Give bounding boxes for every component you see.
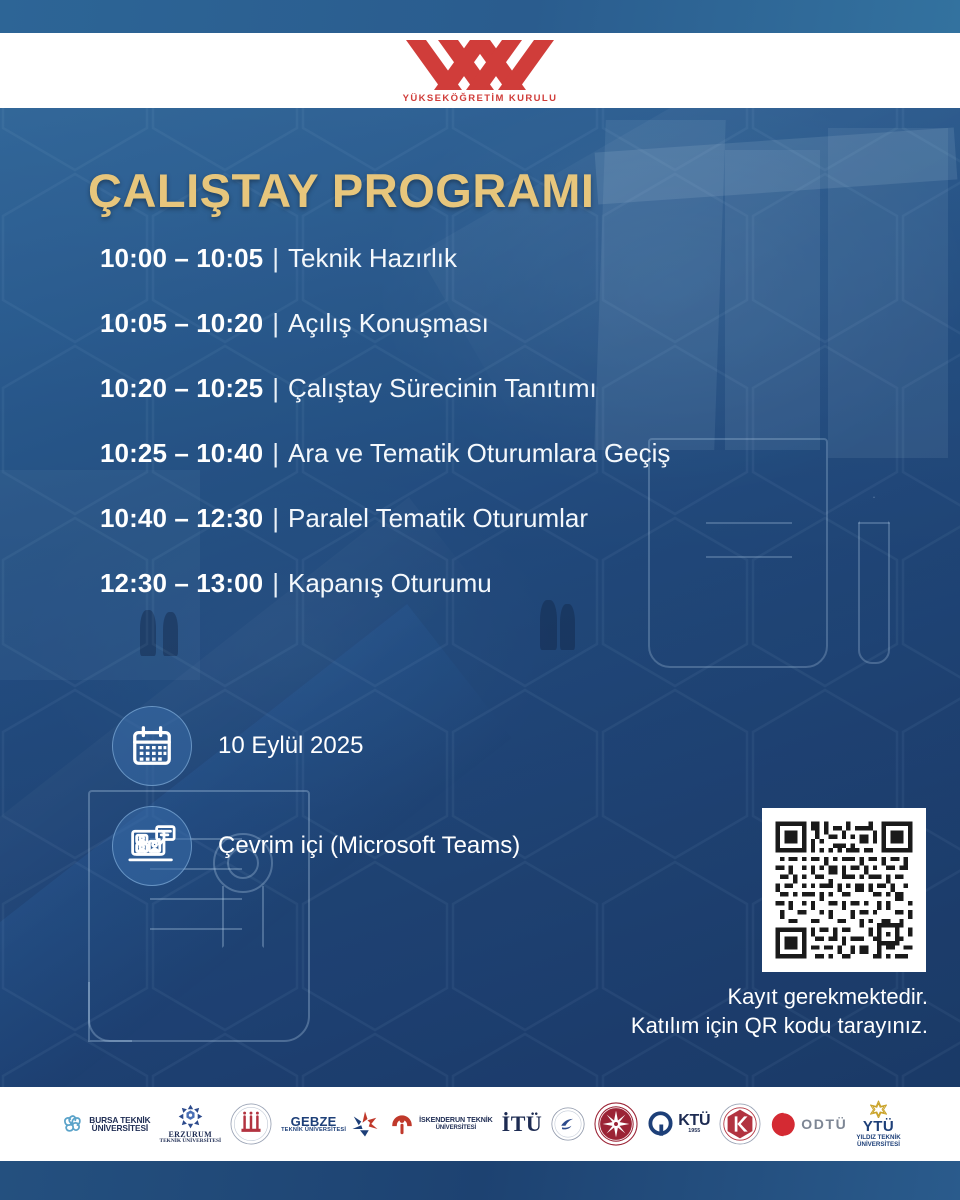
schedule-row: 10:25 – 10:40 | Ara ve Tematik Oturumlar… [100, 438, 910, 503]
bursa-teknik-universitesi-logo: BURSA TEKNİK ÜNİVERSİTESİ [59, 1111, 150, 1137]
university-seal-icon [230, 1103, 272, 1145]
ktu-mark-icon [647, 1111, 674, 1138]
schedule-separator: | [272, 373, 279, 404]
schedule-label: Paralel Tematik Oturumlar [288, 503, 588, 534]
ktu-logo: KTÜ 1955 [647, 1111, 710, 1138]
event-place-text: Çevrim içi (Microsoft Teams) [218, 832, 520, 860]
video-conference-icon [112, 806, 192, 886]
logo-line1: KTÜ [678, 1113, 710, 1129]
header-logo-band: YÜKSEKÖĞRETİM KURULU [0, 33, 960, 108]
top-accent-strip [0, 0, 960, 33]
schedule-row: 10:05 – 10:20 | Açılış Konuşması [100, 308, 910, 373]
schedule-time: 10:00 – 10:05 [100, 243, 263, 274]
event-date-text: 10 Eylül 2025 [218, 732, 363, 760]
yok-mark-icon [404, 38, 556, 92]
schedule-separator: | [272, 503, 279, 534]
partner-logos-band: BURSA TEKNİK ÜNİVERSİTESİ ERZURUM TEKNİK… [0, 1087, 960, 1161]
schedule-time: 12:30 – 13:00 [100, 568, 263, 599]
schedule-row: 10:00 – 10:05 | Teknik Hazırlık [100, 243, 910, 308]
itu-logo: İTÜ [502, 1111, 543, 1137]
schedule-time: 10:05 – 10:20 [100, 308, 263, 339]
workshop-program-poster: YÜKSEKÖĞRETİM KURULU ÇALIŞTAY PROGRAMI 1… [0, 0, 960, 1200]
footer-accent-strip [0, 1161, 960, 1200]
yok-logo: YÜKSEKÖĞRETİM KURULU [403, 38, 558, 104]
registration-note-line2: Katılım için QR kodu tarayınız. [508, 1012, 928, 1041]
iskenderun-seal-logo [230, 1103, 272, 1145]
schedule-time: 10:25 – 10:40 [100, 438, 263, 469]
logo-line2: ÜNİVERSİTESİ [89, 1124, 150, 1132]
calendar-icon [112, 706, 192, 786]
logo-line2: ÜNİVERSİTESİ [856, 1142, 900, 1148]
erzurum-teknik-universitesi-logo: ERZURUM TEKNİK ÜNİVERSİTESİ [159, 1103, 221, 1145]
logo-line1: GEBZE [281, 1115, 346, 1128]
university-seal-icon [551, 1107, 585, 1141]
ytu-logo: YTÜ YILDIZ TEKNİK ÜNİVERSİTESİ [856, 1100, 900, 1148]
iskenderun-mark-icon [389, 1111, 415, 1137]
schedule-label: Çalıştay Sürecinin Tanıtımı [288, 373, 597, 404]
university-seal-icon [594, 1102, 638, 1146]
registration-note: Kayıt gerekmektedir. Katılım için QR kod… [508, 983, 928, 1040]
logo-line2: 1955 [678, 1129, 710, 1135]
schedule-row: 12:30 – 13:00 | Kapanış Oturumu [100, 568, 910, 633]
iskenderun-teknik-universitesi-logo: İSKENDERUN TEKNİK ÜNİVERSİTESİ [389, 1111, 493, 1137]
registration-note-line1: Kayıt gerekmektedir. [508, 983, 928, 1012]
schedule-label: Teknik Hazırlık [288, 243, 457, 274]
logo-line2: ÜNİVERSİTESİ [419, 1125, 493, 1131]
gebze-yuksek-teknoloji-seal-logo [594, 1102, 638, 1146]
schedule-separator: | [272, 243, 279, 274]
qr-code[interactable] [762, 808, 926, 972]
bursa-swirl-icon [59, 1111, 85, 1137]
schedule-row: 10:40 – 12:30 | Paralel Tematik Oturumla… [100, 503, 910, 568]
schedule-label: Kapanış Oturumu [288, 568, 492, 599]
konya-teknik-universitesi-seal-logo [719, 1103, 761, 1145]
yok-logo-text: YÜKSEKÖĞRETİM KURULU [403, 93, 558, 104]
schedule-time: 10:40 – 12:30 [100, 503, 263, 534]
ytu-mark-text: YTÜ [863, 1118, 894, 1135]
schedule-separator: | [272, 568, 279, 599]
schedule-list: 10:00 – 10:05 | Teknik Hazırlık 10:05 – … [100, 243, 910, 633]
qr-code-icon[interactable] [771, 817, 917, 963]
schedule-label: Ara ve Tematik Oturumlara Geçiş [288, 438, 670, 469]
certificate-curl [88, 982, 132, 1042]
schedule-separator: | [272, 438, 279, 469]
logo-line1: İSKENDERUN TEKNİK [419, 1117, 493, 1124]
logo-line2: TEKNİK ÜNİVERSİTESİ [281, 1128, 346, 1134]
event-date-row: 10 Eylül 2025 [112, 706, 363, 786]
gebze-mark-icon [350, 1109, 380, 1139]
erzurum-snowflake-icon [177, 1103, 204, 1130]
odtu-mark-icon [770, 1111, 797, 1138]
seal-logo-small [551, 1107, 585, 1141]
ytu-star-icon [866, 1100, 891, 1118]
itu-logo-text: İTÜ [502, 1111, 543, 1137]
page-title: ÇALIŞTAY PROGRAMI [88, 163, 594, 218]
odtu-logo-text: ODTÜ [801, 1116, 847, 1132]
event-place-row: Çevrim içi (Microsoft Teams) [112, 806, 520, 886]
schedule-separator: | [272, 308, 279, 339]
odtu-logo: ODTÜ [770, 1111, 847, 1138]
university-seal-icon [719, 1103, 761, 1145]
gebze-teknik-universitesi-logo: GEBZE TEKNİK ÜNİVERSİTESİ [281, 1109, 380, 1139]
schedule-row: 10:20 – 10:25 | Çalıştay Sürecinin Tanıt… [100, 373, 910, 438]
logo-line2: TEKNİK ÜNİVERSİTESİ [159, 1139, 221, 1145]
schedule-time: 10:20 – 10:25 [100, 373, 263, 404]
schedule-label: Açılış Konuşması [288, 308, 489, 339]
